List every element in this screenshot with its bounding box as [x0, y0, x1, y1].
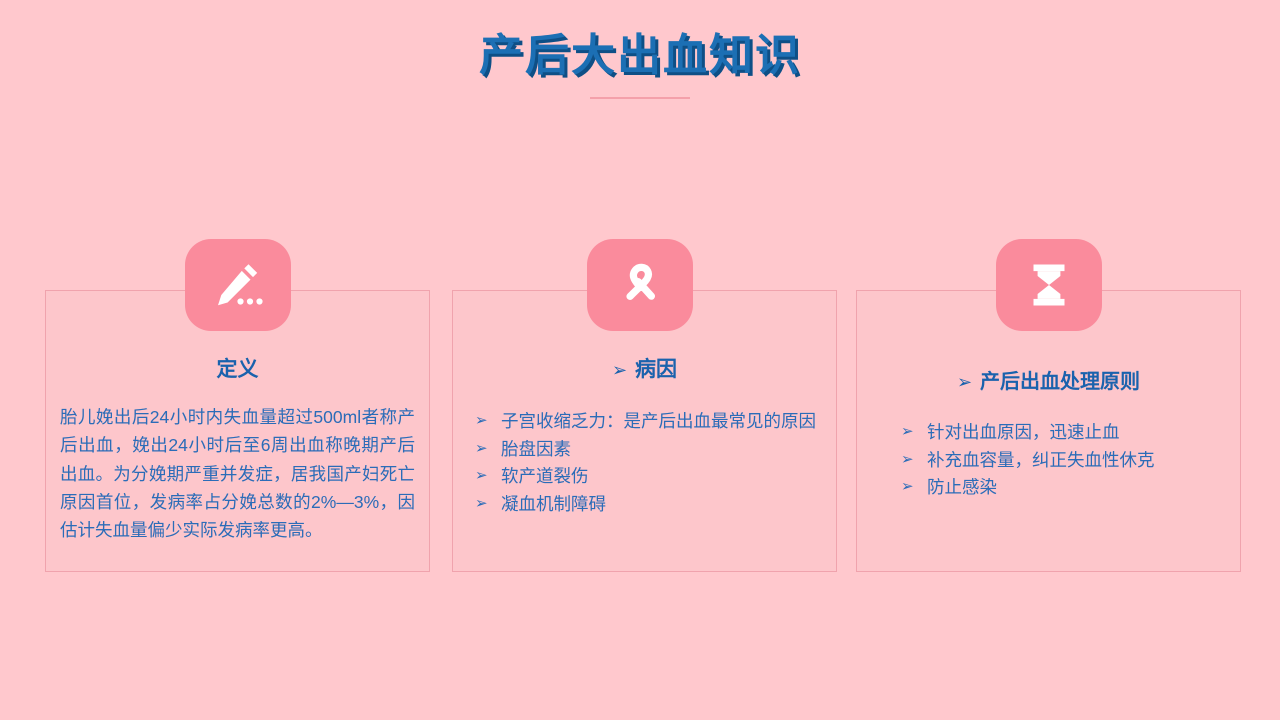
card-definition-body: 胎儿娩出后24小时内失血量超过500ml者称产后出血，娩出24小时后至6周出血称…: [60, 403, 415, 545]
card-definition[interactable]: 定义 胎儿娩出后24小时内失血量超过500ml者称产后出血，娩出24小时后至6周…: [45, 290, 430, 572]
list-item-text: 补充血容量，纠正失血性休克: [927, 447, 1230, 474]
list-item: ➢ 补充血容量，纠正失血性休克: [901, 447, 1230, 474]
list-item-text: 针对出血原因，迅速止血: [927, 419, 1230, 446]
card-causes-heading: ➢病因: [453, 353, 836, 383]
card-causes-heading-text: 病因: [635, 358, 677, 381]
list-item-text: 凝血机制障碍: [501, 491, 826, 518]
hourglass-icon: [996, 239, 1102, 331]
pencil-edit-icon: [185, 239, 291, 331]
awareness-ribbon-icon: [587, 239, 693, 331]
card-causes-bullet-list: ➢ 子宫收缩乏力：是产后出血最常见的原因 ➢ 胎盘因素 ➢ 软产道裂伤 ➢ 凝血…: [475, 408, 826, 518]
list-item: ➢ 子宫收缩乏力：是产后出血最常见的原因: [475, 408, 826, 435]
card-treatment-heading-text: 产后出血处理原则: [980, 371, 1140, 393]
list-item: ➢ 胎盘因素: [475, 436, 826, 463]
card-definition-heading-text: 定义: [217, 358, 259, 381]
list-item-text: 子宫收缩乏力：是产后出血最常见的原因: [501, 408, 826, 435]
bullet-arrow-icon: ➢: [475, 408, 501, 434]
bullet-arrow-icon: ➢: [475, 436, 501, 462]
list-item-text: 软产道裂伤: [501, 463, 826, 490]
card-definition-heading: 定义: [46, 353, 429, 383]
list-item: ➢ 软产道裂伤: [475, 463, 826, 490]
bullet-arrow-icon: ➢: [901, 447, 927, 473]
cards-row: 定义 胎儿娩出后24小时内失血量超过500ml者称产后出血，娩出24小时后至6周…: [0, 290, 1280, 572]
bullet-arrow-icon: ➢: [901, 419, 927, 445]
list-item-text: 防止感染: [927, 474, 1230, 501]
page-title-block: 产后大出血知识: [0, 32, 1280, 80]
list-item-text: 胎盘因素: [501, 436, 826, 463]
card-causes[interactable]: ➢病因 ➢ 子宫收缩乏力：是产后出血最常见的原因 ➢ 胎盘因素 ➢ 软产道裂伤 …: [452, 290, 837, 572]
card-treatment-bullet-list: ➢ 针对出血原因，迅速止血 ➢ 补充血容量，纠正失血性休克 ➢ 防止感染: [901, 419, 1230, 502]
card-treatment-heading-arrow-icon: ➢: [957, 372, 972, 393]
list-item: ➢ 防止感染: [901, 474, 1230, 501]
list-item: ➢ 针对出血原因，迅速止血: [901, 419, 1230, 446]
bullet-arrow-icon: ➢: [475, 463, 501, 489]
title-underline-rule: [590, 97, 690, 99]
bullet-arrow-icon: ➢: [475, 491, 501, 517]
page-title: 产后大出血知识: [479, 32, 801, 80]
list-item: ➢ 凝血机制障碍: [475, 491, 826, 518]
card-treatment-principles[interactable]: ➢产后出血处理原则 ➢ 针对出血原因，迅速止血 ➢ 补充血容量，纠正失血性休克 …: [856, 290, 1241, 572]
bullet-arrow-icon: ➢: [901, 474, 927, 500]
card-treatment-heading: ➢产后出血处理原则: [857, 365, 1240, 394]
card-causes-heading-arrow-icon: ➢: [612, 360, 627, 381]
